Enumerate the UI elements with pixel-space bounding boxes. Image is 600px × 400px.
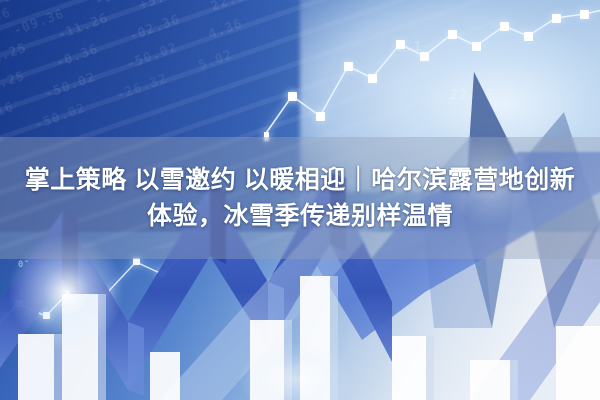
headline-line-1: 掌上策略 以雪邀约 以暖相迎｜哈尔滨露营地创新 [25,165,575,196]
article-banner: -02.3645.0221.05-0.3650.02-0.36-11.2545.… [0,0,600,400]
page-title: 掌上策略 以雪邀约 以暖相迎｜哈尔滨露营地创新 体验，冰雪季传递别样温情 [0,137,600,259]
headline-line-2: 体验，冰雪季传递别样温情 [147,201,453,232]
